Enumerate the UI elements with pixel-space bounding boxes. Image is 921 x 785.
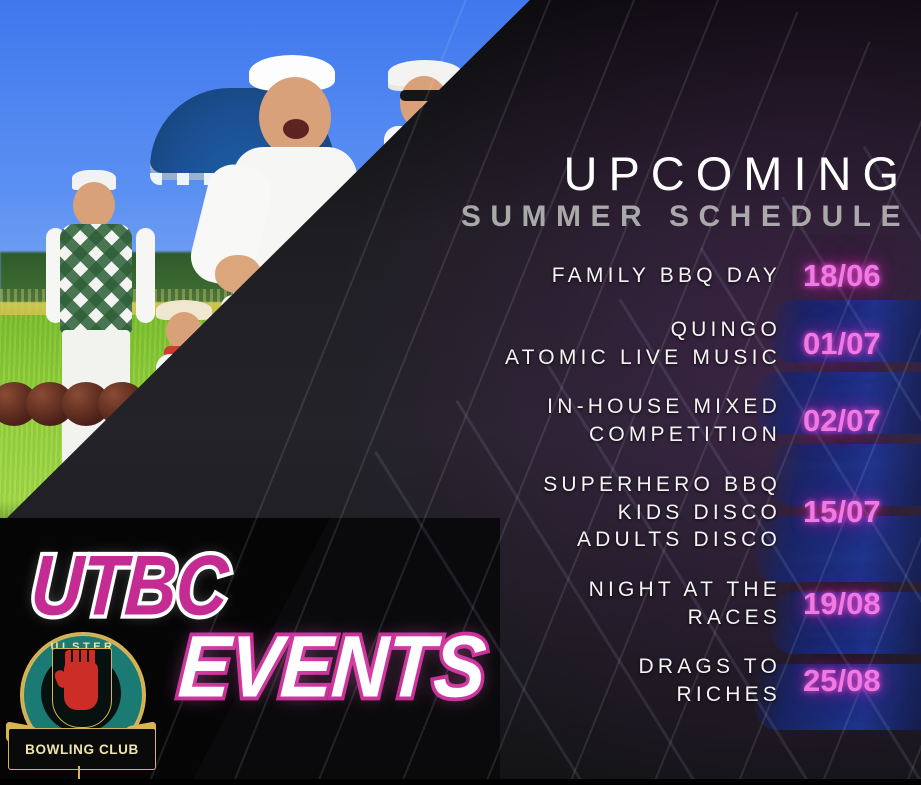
red-hand-icon [64, 662, 98, 710]
event-name: NIGHT AT THE RACES [400, 576, 803, 631]
event-date: 19/08 [803, 586, 921, 622]
club-badge: ULSTER TRANSPORT BOWLING CLUB [8, 632, 154, 782]
event-name: QUINGO ATOMIC LIVE MUSIC [400, 316, 803, 371]
event-list: FAMILY BBQ DAY 18/06 QUINGO ATOMIC LIVE … [400, 258, 921, 731]
event-name: DRAGS TO RICHES [400, 653, 803, 708]
poster-heading-group: UPCOMING SUMMER SCHEDULE [430, 150, 910, 235]
event-row: FAMILY BBQ DAY 18/06 [400, 258, 921, 294]
argyle-vest [60, 224, 132, 334]
mouth [283, 119, 309, 139]
head [73, 182, 115, 228]
event-date: 15/07 [803, 494, 921, 530]
event-row: IN-HOUSE MIXED COMPETITION 02/07 [400, 393, 921, 448]
badge-banner: BOWLING CLUB [8, 728, 156, 770]
head [259, 77, 331, 157]
event-date: 18/06 [803, 258, 921, 294]
page-subtitle: SUMMER SCHEDULE [430, 198, 910, 236]
badge-banner-text: BOWLING CLUB [25, 742, 139, 757]
event-row: SUPERHERO BBQ KIDS DISCO ADULTS DISCO 15… [400, 471, 921, 554]
event-name: SUPERHERO BBQ KIDS DISCO ADULTS DISCO [400, 471, 803, 554]
event-name: IN-HOUSE MIXED COMPETITION [400, 393, 803, 448]
event-date: 02/07 [803, 403, 921, 439]
event-row: QUINGO ATOMIC LIVE MUSIC 01/07 [400, 316, 921, 371]
event-row: NIGHT AT THE RACES 19/08 [400, 576, 921, 631]
page-title: UPCOMING [430, 150, 910, 198]
event-row: DRAGS TO RICHES 25/08 [400, 653, 921, 708]
bottom-edge-bar [0, 779, 921, 785]
event-date: 01/07 [803, 326, 921, 362]
event-name: FAMILY BBQ DAY [400, 262, 803, 290]
event-poster: UPCOMING SUMMER SCHEDULE FAMILY BBQ DAY … [0, 0, 921, 785]
event-date: 25/08 [803, 663, 921, 699]
